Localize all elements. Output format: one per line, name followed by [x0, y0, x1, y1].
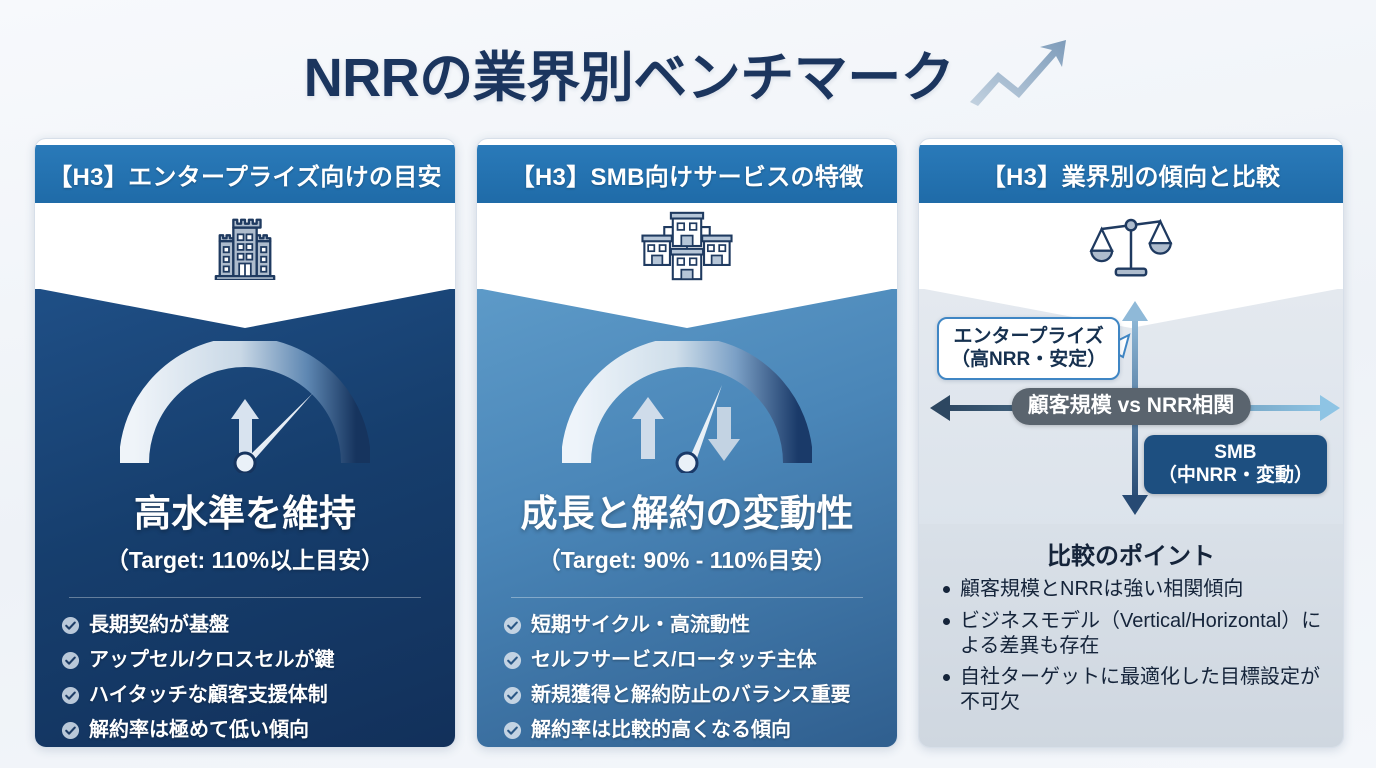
list-item-label: 自社ターゲットに最適化した目標設定が不可欠 — [960, 665, 1323, 715]
list-item: 短期サイクル・高流動性 — [503, 614, 871, 637]
list-item: 顧客規模とNRRは強い相関傾向 — [939, 577, 1323, 602]
list-item-label: セルフサービス/ロータッチ主体 — [531, 649, 817, 672]
card-smb-bullets: 短期サイクル・高流動性 セルフサービス/ロータッチ主体 新規獲得と解約防止のバラ… — [503, 614, 871, 748]
list-item-label: 解約率は比較的高くなる傾向 — [531, 719, 791, 742]
bullet-dot-icon — [943, 674, 950, 681]
network-buildings-icon — [641, 210, 733, 282]
list-item: 自社ターゲットに最適化した目標設定が不可欠 — [939, 665, 1323, 715]
bullet-dot-icon — [943, 618, 950, 625]
list-item-label: ビジネスモデル（Vertical/Horizontal）による差異も存在 — [960, 609, 1323, 659]
comparison-points-panel: 比較のポイント 顧客規模とNRRは強い相関傾向 ビジネスモデル（Vertical… — [919, 524, 1343, 747]
card-smb-headline: 成長と解約の変動性 — [521, 483, 854, 537]
gauge-high — [120, 341, 370, 473]
list-item: 解約率は比較的高くなる傾向 — [503, 719, 871, 742]
balance-scale-icon — [1088, 211, 1174, 281]
card-smb[interactable]: 【H3】SMB向けサービスの特徴 — [476, 138, 898, 748]
card-comparison-icon-strip — [919, 203, 1343, 289]
card-enterprise-body: 高水準を維持 （Target: 110%以上目安） 長期契約が基盤 アップセル/… — [35, 289, 455, 748]
check-circle-icon — [503, 616, 522, 635]
bubble-enterprise-line2: （高NRR・安定） — [951, 348, 1106, 371]
card-enterprise-subline: （Target: 110%以上目安） — [106, 541, 384, 575]
bubble-smb: SMB （中NRR・変動） — [1144, 435, 1327, 494]
axis-label-correlation: 顧客規模 vs NRR相関 — [1012, 388, 1251, 425]
check-circle-icon — [61, 651, 80, 670]
card-enterprise[interactable]: 【H3】エンタープライズ向けの目安 — [34, 138, 456, 748]
bubble-smb-line1: SMB — [1158, 441, 1313, 464]
card-enterprise-bullets: 長期契約が基盤 アップセル/クロスセルが鍵 ハイタッチな顧客支援体制 — [61, 614, 429, 748]
bubble-smb-line2: （中NRR・変動） — [1158, 464, 1313, 487]
check-circle-icon — [61, 721, 80, 740]
bubble-enterprise-line1: エンタープライズ — [951, 325, 1106, 348]
page-title: NRRの業界別ベンチマーク — [304, 33, 955, 112]
list-item-label: 長期契約が基盤 — [89, 614, 229, 637]
trending-up-arrow-icon — [968, 36, 1072, 108]
card-enterprise-divider — [69, 597, 421, 598]
card-enterprise-icon-strip — [35, 203, 455, 289]
bubble-enterprise: エンタープライズ （高NRR・安定） — [937, 317, 1120, 380]
list-item: ハイタッチな顧客支援体制 — [61, 684, 429, 707]
comparison-points-list: 顧客規模とNRRは強い相関傾向 ビジネスモデル（Vertical/Horizon… — [939, 577, 1323, 715]
list-item: セルフサービス/ロータッチ主体 — [503, 649, 871, 672]
list-item: アップセル/クロスセルが鍵 — [61, 649, 429, 672]
page-header: NRRの業界別ベンチマーク — [0, 26, 1376, 118]
list-item-label: 解約率は極めて低い傾向 — [89, 719, 309, 742]
check-circle-icon — [61, 616, 80, 635]
check-circle-icon — [503, 651, 522, 670]
check-circle-icon — [503, 686, 522, 705]
check-circle-icon — [61, 686, 80, 705]
list-item-label: ハイタッチな顧客支援体制 — [89, 684, 328, 707]
card-smb-subline: （Target: 90% - 110%目安） — [538, 541, 837, 575]
list-item: 長期契約が基盤 — [61, 614, 429, 637]
cards-container: 【H3】エンタープライズ向けの目安 — [34, 138, 1344, 748]
card-comparison-header: 【H3】業界別の傾向と比較 — [919, 145, 1343, 203]
quadrant-diagram: エンタープライズ （高NRR・安定） 顧客規模 vs NRR相関 SMB （中N… — [919, 295, 1343, 520]
list-item: ビジネスモデル（Vertical/Horizontal）による差異も存在 — [939, 609, 1323, 659]
list-item-label: 顧客規模とNRRは強い相関傾向 — [960, 577, 1243, 602]
check-circle-icon — [503, 721, 522, 740]
card-smb-divider — [511, 597, 863, 598]
card-enterprise-headline: 高水準を維持 — [134, 483, 356, 537]
card-smb-header: 【H3】SMB向けサービスの特徴 — [477, 145, 897, 203]
gauge-volatile — [562, 341, 812, 473]
comparison-points-title: 比較のポイント — [939, 536, 1323, 571]
card-comparison-body: エンタープライズ （高NRR・安定） 顧客規模 vs NRR相関 SMB （中N… — [919, 289, 1343, 747]
chevron-divider-1 — [35, 288, 455, 334]
list-item: 解約率は極めて低い傾向 — [61, 719, 429, 742]
list-item-label: 新規獲得と解約防止のバランス重要 — [531, 684, 851, 707]
list-item: 新規獲得と解約防止のバランス重要 — [503, 684, 871, 707]
chevron-divider-2 — [477, 288, 897, 334]
list-item-label: アップセル/クロスセルが鍵 — [89, 649, 335, 672]
card-comparison[interactable]: 【H3】業界別の傾向と比較 — [918, 138, 1344, 748]
card-smb-icon-strip — [477, 203, 897, 289]
list-item-label: 短期サイクル・高流動性 — [531, 614, 750, 637]
castle-fortress-icon — [206, 212, 284, 280]
card-enterprise-header: 【H3】エンタープライズ向けの目安 — [35, 145, 455, 203]
card-smb-body: 成長と解約の変動性 （Target: 90% - 110%目安） 短期サイクル・… — [477, 289, 897, 748]
bullet-dot-icon — [943, 586, 950, 593]
